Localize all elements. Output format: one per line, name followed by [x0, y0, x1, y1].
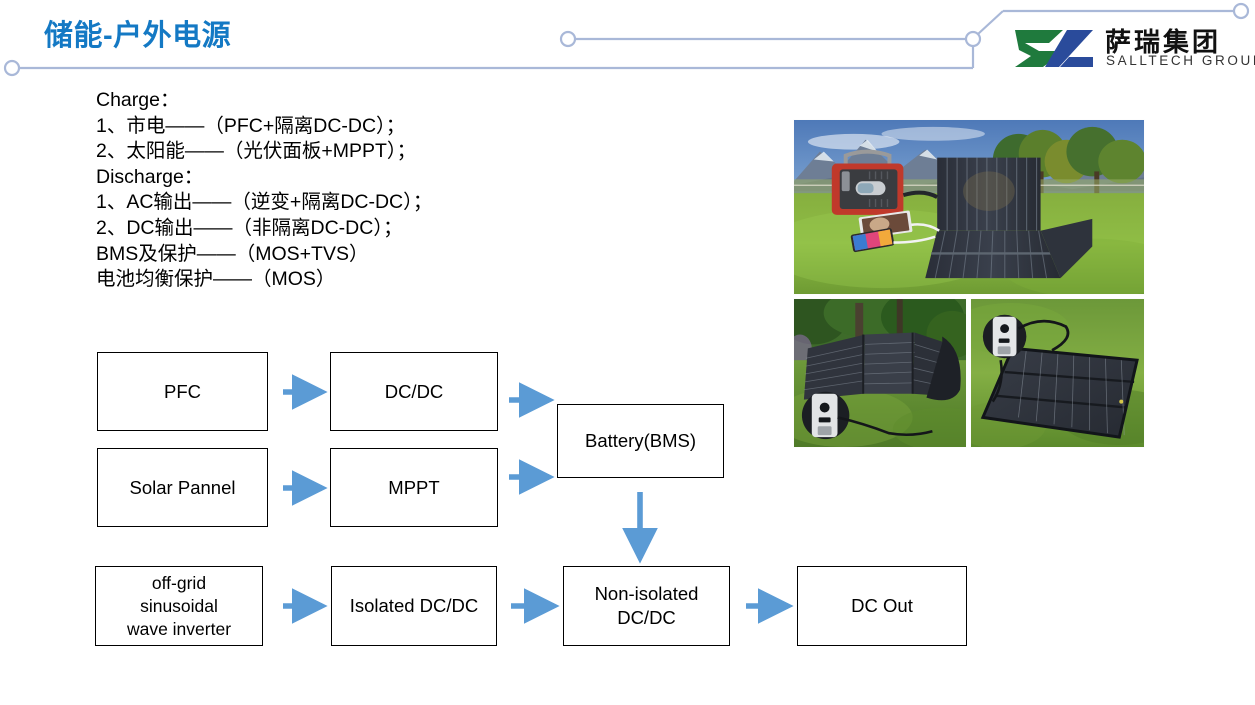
flow-node-inverter-label-line2: sinusoidal — [127, 595, 231, 618]
flow-node-isolated-dcdc[interactable]: Isolated DC/DC — [331, 566, 497, 646]
flow-node-inverter-label-line1: off-grid — [127, 572, 231, 595]
company-logo: 萨瑞集团 SALLTECH GROUP — [1013, 24, 1245, 74]
flow-node-pfc[interactable]: PFC — [97, 352, 268, 431]
flow-node-battery-bms[interactable]: Battery(BMS) — [557, 404, 724, 478]
slide-header: 储能-户外电源 萨瑞集团 SALLTECH GROUP — [0, 0, 1255, 92]
photo-solar-panel-with-power-station — [793, 119, 1145, 295]
flow-node-inverter-label-line3: wave inverter — [127, 618, 231, 641]
spec-line-ac-output: 1、AC输出——（逆变+隔离DC-DC）； — [96, 190, 696, 216]
flow-node-pfc-label: PFC — [164, 380, 201, 404]
flow-node-non-isolated-dcdc[interactable]: Non-isolated DC/DC — [563, 566, 730, 646]
flow-node-dcdc-label: DC/DC — [385, 380, 444, 404]
specification-text-block: Charge： 1、市电——（PFC+隔离DC-DC）； 2、太阳能——（光伏面… — [96, 88, 696, 293]
photo-folding-solar-panel-flat — [970, 298, 1145, 448]
page-title: 储能-户外电源 — [44, 12, 231, 54]
flow-node-non-isolated-label-line1: Non-isolated — [595, 582, 699, 606]
flow-node-isolated-dcdc-label: Isolated DC/DC — [350, 594, 479, 618]
flow-node-solar-pannel-label: Solar Pannel — [130, 476, 236, 500]
salltech-logo-mark — [1013, 26, 1097, 70]
photo-folding-solar-panel-upright — [793, 298, 967, 448]
flow-node-non-isolated-label-line2: DC/DC — [595, 606, 699, 630]
flow-node-mppt-label: MPPT — [388, 476, 439, 500]
spec-line-solar: 2、太阳能——（光伏面板+MPPT）； — [96, 139, 696, 165]
flow-node-battery-bms-label: Battery(BMS) — [585, 429, 696, 453]
spec-line-charge-header: Charge： — [96, 88, 696, 114]
logo-name-en: SALLTECH GROUP — [1106, 53, 1255, 68]
spec-line-discharge-header: Discharge： — [96, 165, 696, 191]
flow-node-dcdc[interactable]: DC/DC — [330, 352, 498, 431]
product-photo-collage — [793, 119, 1145, 448]
flow-node-dc-out[interactable]: DC Out — [797, 566, 967, 646]
flow-node-dc-out-label: DC Out — [851, 594, 913, 618]
flow-node-off-grid-inverter[interactable]: off-grid sinusoidal wave inverter — [95, 566, 263, 646]
spec-line-bms-protection: BMS及保护——（MOS+TVS） — [96, 242, 696, 268]
spec-line-cell-balancing: 电池均衡保护——（MOS） — [96, 267, 696, 293]
flow-node-mppt[interactable]: MPPT — [330, 448, 498, 527]
spec-line-mains: 1、市电——（PFC+隔离DC-DC）； — [96, 114, 696, 140]
flow-node-solar-pannel[interactable]: Solar Pannel — [97, 448, 268, 527]
spec-line-dc-output: 2、DC输出——（非隔离DC-DC）； — [96, 216, 696, 242]
